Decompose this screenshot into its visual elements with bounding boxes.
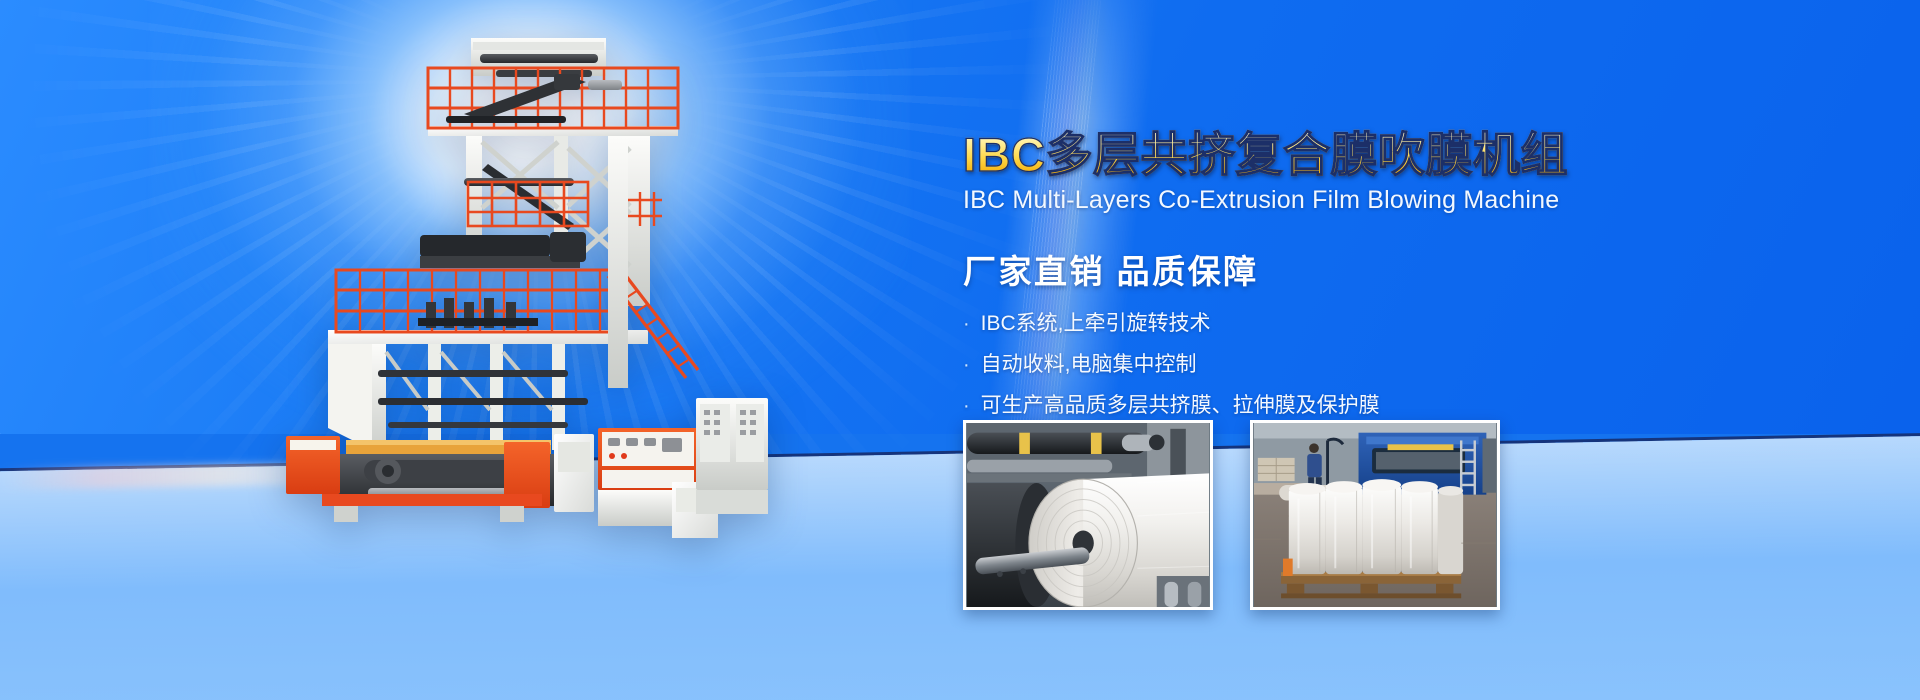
blown-film-machine-image	[268, 30, 768, 550]
feature-item-2: · 自动收料,电脑集中控制	[963, 354, 1703, 375]
banner-copy: IBC多层共挤复合膜吹膜机组 IBC Multi-Layers Co-Extru…	[963, 128, 1703, 436]
feature-text-2: 自动收料,电脑集中控制	[981, 354, 1197, 375]
thumbnail-pallet-rolls[interactable]	[1250, 420, 1500, 610]
product-banner: IBC多层共挤复合膜吹膜机组 IBC Multi-Layers Co-Extru…	[0, 0, 1920, 700]
bullet-dot-icon: ·	[963, 314, 970, 334]
feature-item-1: · IBC系统,上牵引旋转技术	[963, 313, 1703, 334]
banner-subtitle-en: IBC Multi-Layers Co-Extrusion Film Blowi…	[963, 186, 1703, 215]
feature-text-3: 可生产高品质多层共挤膜、拉伸膜及保护膜	[981, 395, 1380, 416]
feature-list: · IBC系统,上牵引旋转技术 · 自动收料,电脑集中控制 · 可生产高品质多层…	[963, 313, 1703, 416]
feature-text-1: IBC系统,上牵引旋转技术	[981, 313, 1211, 334]
bullet-dot-icon: ·	[963, 396, 970, 416]
banner-tagline-cn: 厂家直销 品质保障	[963, 245, 1703, 293]
bullet-dot-icon: ·	[963, 355, 970, 375]
thumbnail-film-roll[interactable]	[963, 420, 1213, 610]
banner-title-cn: IBC多层共挤复合膜吹膜机组	[963, 128, 1703, 182]
product-thumbnail-gallery	[963, 420, 1500, 610]
feature-item-3: · 可生产高品质多层共挤膜、拉伸膜及保护膜	[963, 395, 1703, 416]
